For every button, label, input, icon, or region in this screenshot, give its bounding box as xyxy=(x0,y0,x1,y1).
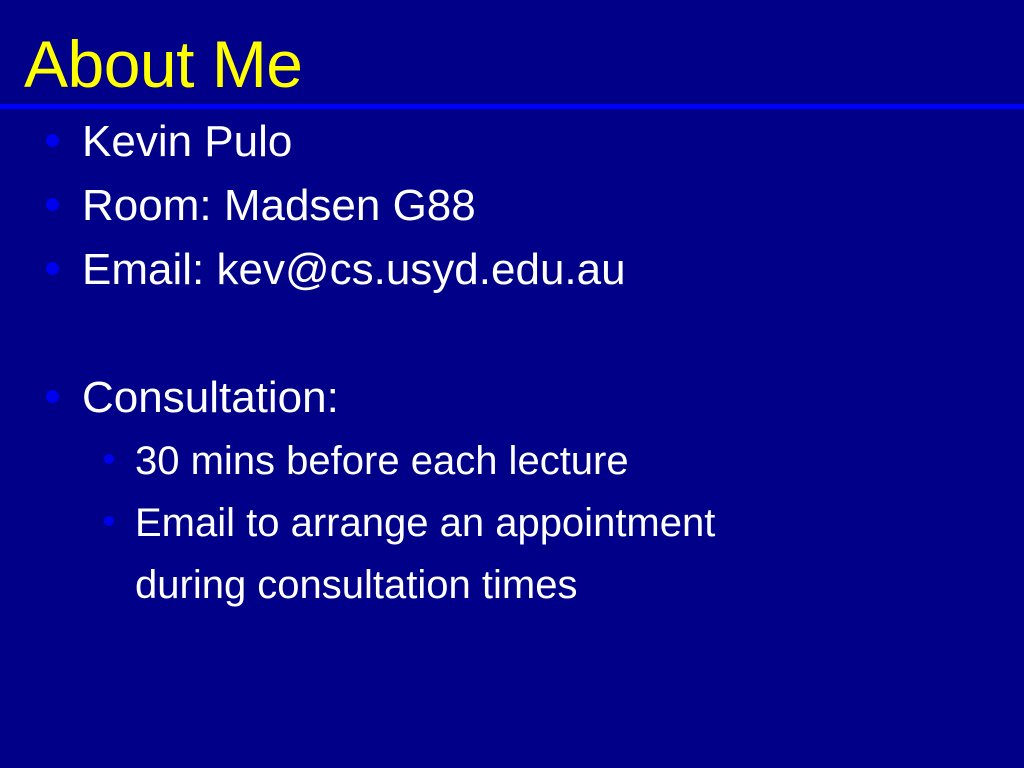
bullet-list: Kevin Pulo Room: Madsen G88 Email: kev@c… xyxy=(0,110,1024,616)
presentation-slide: About Me Kevin Pulo Room: Madsen G88 Ema… xyxy=(0,0,1024,768)
bullet-text-wrapped: during consultation times xyxy=(135,554,1024,616)
bullet-dot-icon xyxy=(46,198,59,211)
slide-body-area: Kevin Pulo Room: Madsen G88 Email: kev@c… xyxy=(0,110,1024,768)
list-item: Consultation: xyxy=(0,366,1024,430)
list-item: Kevin Pulo xyxy=(0,110,1024,174)
bullet-text: Email: kev@cs.usyd.edu.au xyxy=(82,238,1024,302)
list-item: Email: kev@cs.usyd.edu.au xyxy=(0,238,1024,302)
bullet-dot-icon xyxy=(104,516,114,526)
bullet-dot-icon xyxy=(46,134,59,147)
bullet-dot-icon xyxy=(104,454,114,464)
bullet-text: Room: Madsen G88 xyxy=(82,174,1024,238)
list-item: Room: Madsen G88 xyxy=(0,174,1024,238)
slide-title-area: About Me xyxy=(0,0,1024,110)
title-divider-rule xyxy=(0,104,1024,109)
bullet-text: Consultation: xyxy=(82,366,1024,430)
bullet-dot-icon xyxy=(46,390,59,403)
list-item: 30 mins before each lecture xyxy=(0,430,1024,492)
bullet-text: 30 mins before each lecture xyxy=(135,430,935,492)
list-item-spacer xyxy=(0,302,1024,366)
list-item: Email to arrange an appointment during c… xyxy=(0,492,1024,616)
bullet-text: Kevin Pulo xyxy=(82,110,1024,174)
bullet-text: Email to arrange an appointment xyxy=(135,492,935,554)
page-title: About Me xyxy=(24,29,303,99)
bullet-dot-icon xyxy=(46,262,59,275)
